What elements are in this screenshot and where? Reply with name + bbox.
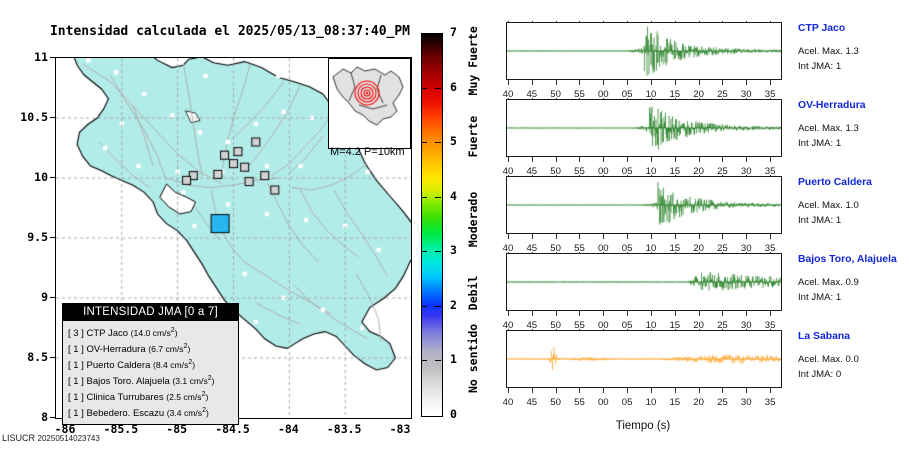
seismogram-panel[interactable] <box>506 253 782 311</box>
colorbar-tick-mark <box>421 360 427 361</box>
station-name: La Sabana <box>798 331 850 342</box>
colorbar-tick-label: 3 <box>450 243 457 257</box>
colorbar-tick-label: 6 <box>450 80 457 94</box>
legend-station-name: Puerto Caldera <box>84 360 153 371</box>
legend-intensity-index: [ 1 ] <box>68 360 84 371</box>
time-tick-label: 50 <box>545 397 567 408</box>
colorbar-tick-mark <box>435 251 441 252</box>
time-tick-label: 25 <box>711 397 733 408</box>
legend-station-name: Bebedero. Escazu <box>84 408 167 419</box>
legend-acceleration: (8.4 cm/s2) <box>153 360 195 370</box>
map-xtick: -83.5 <box>321 422 367 436</box>
legend-acceleration: (6.7 cm/s2) <box>148 344 190 354</box>
seismogram-panel[interactable] <box>506 330 782 388</box>
legend-station-name: OV-Herradura <box>84 344 148 355</box>
map-ytick-mark <box>50 117 55 118</box>
legend-acceleration: (3.1 cm/s2) <box>172 376 214 386</box>
map-ytick-mark <box>50 177 55 178</box>
time-axis-title: Tiempo (s) <box>506 420 780 432</box>
station-name: CTP Jaco <box>798 23 845 34</box>
time-tick-label: 35 <box>759 397 781 408</box>
time-tick-label: 30 <box>735 397 757 408</box>
station-name: OV-Herradura <box>798 100 866 111</box>
colorbar-category-label: No sentido <box>466 328 480 388</box>
legend-rows: [ 3 ] CTP Jaco (14.0 cm/s2)[ 1 ] OV-Herr… <box>63 321 238 424</box>
colorbar-category-label: Muy Fuerte <box>466 28 480 93</box>
colorbar-tick-label: 2 <box>450 298 457 312</box>
colorbar-category-label: Moderado <box>466 180 480 259</box>
map-ytick: 10.5 <box>2 110 48 124</box>
legend-intensity-index: [ 1 ] <box>68 392 84 403</box>
waveform-trace <box>507 331 781 387</box>
time-tick-label: 55 <box>568 397 590 408</box>
colorbar-tick-mark <box>435 197 441 198</box>
legend-row: [ 1 ] Bebedero. Escazu (3.4 cm/s2) <box>68 404 233 420</box>
time-tick-label: 00 <box>592 397 614 408</box>
time-tick-label: 10 <box>640 397 662 408</box>
map-ytick: 9.5 <box>2 230 48 244</box>
legend-title: INTENSIDAD JMA [0 a 7] <box>63 304 238 321</box>
seismogram-panel[interactable] <box>506 176 782 234</box>
colorbar-tick-mark <box>421 197 427 198</box>
colorbar-tick-label: 1 <box>450 352 457 366</box>
footer-agency: LISUCR <box>2 433 35 443</box>
footer-credit: LISUCR 20250514023743 <box>2 433 100 443</box>
map-ytick-mark <box>50 357 55 358</box>
inset-render <box>329 59 410 148</box>
legend-row: [ 1 ] OV-Herradura (6.7 cm/s2) <box>68 340 233 356</box>
time-tick-label: 40 <box>497 397 519 408</box>
station-max-acceleration: Acel. Max. 1.0 <box>798 200 859 211</box>
colorbar-tick-label: 7 <box>450 25 457 39</box>
inset-locator-map[interactable] <box>328 58 411 149</box>
panel-tick-labels: 404550550005101520253035 <box>486 397 800 409</box>
legend-row: [ 1 ] Puerto Caldera (8.4 cm/s2) <box>68 356 233 372</box>
map-ytick-mark <box>50 57 55 58</box>
colorbar-tick-mark <box>435 88 441 89</box>
colorbar-tick-mark <box>421 142 427 143</box>
station-name: Bajos Toro, Alajuela <box>798 254 897 265</box>
colorbar-tick-label: 0 <box>450 407 457 421</box>
colorbar-tick-mark <box>435 306 441 307</box>
waveform-trace <box>507 100 781 156</box>
map-xtick: -83 <box>377 422 423 436</box>
magnitude-depth-label: M=4.2 P=10km <box>330 146 405 158</box>
station-max-acceleration: Acel. Max. 0.9 <box>798 277 859 288</box>
station-max-acceleration: Acel. Max. 0.0 <box>798 354 859 365</box>
legend-acceleration: (14.0 cm/s2) <box>131 328 178 338</box>
station-max-acceleration: Acel. Max. 1.3 <box>798 123 859 134</box>
station-jma-intensity: Int JMA: 1 <box>798 215 841 226</box>
time-tick-label: 45 <box>521 397 543 408</box>
footer-code: 20250514023743 <box>38 434 100 443</box>
time-tick-label: 20 <box>688 397 710 408</box>
map-ytick-mark <box>50 417 55 418</box>
legend-intensity-index: [ 1 ] <box>68 408 84 419</box>
colorbar-gradient <box>422 34 442 416</box>
map-ytick: 8.5 <box>2 350 48 364</box>
legend-station-name: Clinica Turrubares <box>84 392 166 403</box>
page-title: Intensidad calculada el 2025/05/13_08:37… <box>0 24 460 39</box>
legend-intensity-index: [ 3 ] <box>68 328 84 339</box>
colorbar-tick-label: 4 <box>450 189 457 203</box>
seismogram-panel[interactable] <box>506 99 782 157</box>
station-jma-intensity: Int JMA: 0 <box>798 369 841 380</box>
colorbar-tick-mark <box>421 88 427 89</box>
station-jma-intensity: Int JMA: 1 <box>798 61 841 72</box>
time-tick-label: 15 <box>664 397 686 408</box>
legend-station-name: Bajos Toro. Alajuela <box>84 376 173 387</box>
waveform-trace <box>507 23 781 79</box>
colorbar-tick-mark <box>421 251 427 252</box>
map-ytick: 10 <box>2 170 48 184</box>
legend-acceleration: (2.5 cm/s2) <box>166 392 208 402</box>
waveform-trace <box>507 254 781 310</box>
intensity-colorbar <box>421 33 443 417</box>
time-tick-label: 05 <box>616 397 638 408</box>
seismogram-panel[interactable] <box>506 22 782 80</box>
waveform-trace <box>507 177 781 233</box>
colorbar-category-label: Fuerte <box>466 93 480 180</box>
station-jma-intensity: Int JMA: 1 <box>798 138 841 149</box>
intensity-legend: INTENSIDAD JMA [0 a 7] [ 3 ] CTP Jaco (1… <box>62 303 239 425</box>
colorbar-tick-label: 5 <box>450 134 457 148</box>
station-max-acceleration: Acel. Max. 1.3 <box>798 46 859 57</box>
station-jma-intensity: Int JMA: 1 <box>798 292 841 303</box>
colorbar-category-label: Debil <box>466 259 480 327</box>
colorbar-tick-mark <box>435 360 441 361</box>
colorbar-tick-mark <box>435 142 441 143</box>
colorbar-tick-mark <box>421 306 427 307</box>
legend-intensity-index: [ 1 ] <box>68 376 84 387</box>
station-name: Puerto Caldera <box>798 177 872 188</box>
legend-station-name: CTP Jaco <box>84 328 131 339</box>
map-ytick-mark <box>50 237 55 238</box>
map-xtick: -84 <box>265 422 311 436</box>
legend-acceleration: (3.4 cm/s2) <box>167 408 209 418</box>
legend-intensity-index: [ 1 ] <box>68 344 84 355</box>
map-ytick: 11 <box>2 50 48 64</box>
legend-row: [ 1 ] Bajos Toro. Alajuela (3.1 cm/s2) <box>68 372 233 388</box>
map-ytick-mark <box>50 297 55 298</box>
map-ytick: 9 <box>2 290 48 304</box>
legend-row: [ 1 ] Clinica Turrubares (2.5 cm/s2) <box>68 388 233 404</box>
legend-row: [ 3 ] CTP Jaco (14.0 cm/s2) <box>68 324 233 340</box>
